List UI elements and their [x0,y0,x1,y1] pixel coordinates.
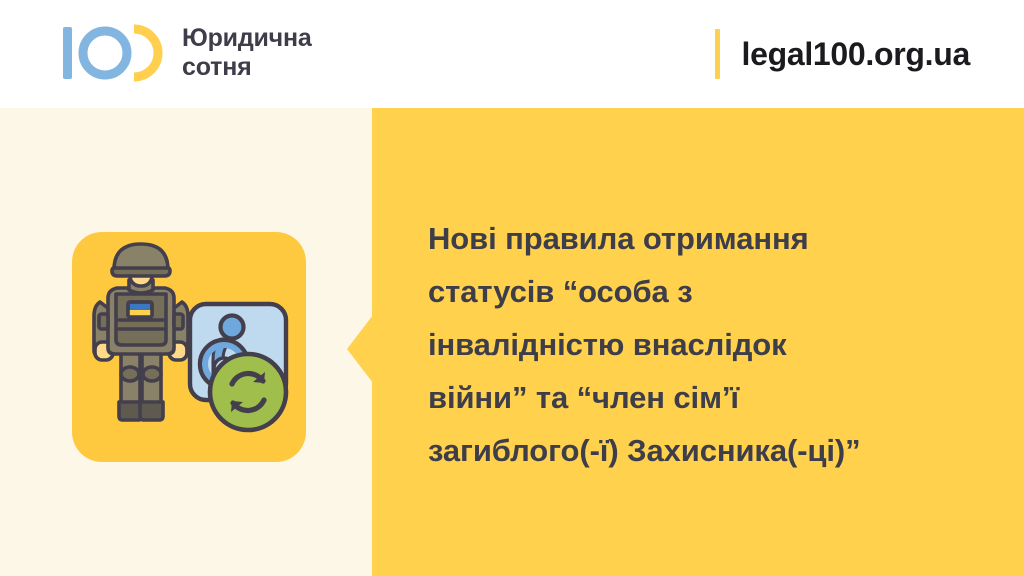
headline-line-4: війни” та “член сім’ї [428,371,1003,424]
headline-line-1: Нові правила отримання [428,212,1003,265]
ukraine-flag-patch [128,302,152,317]
headline-line-5: загиблого(-ї) Захисника(-ці)” [428,424,1003,477]
legal-hundred-logo-mark [60,22,164,84]
headline-line-2: статусів “особа з [428,265,1003,318]
announcement-card: Юридична сотня legal100.org.ua [0,0,1024,576]
page-title: Нові правила отримання статусів “особа з… [428,212,1003,477]
illustration-card [72,232,306,462]
site-url-block[interactable]: legal100.org.ua [715,26,971,82]
site-divider [715,29,720,79]
content-area: Нові правила отримання статусів “особа з… [0,108,1024,576]
brand-name: Юридична сотня [182,24,312,83]
refresh-renewal-icon [210,354,286,430]
page-header: Юридична сотня legal100.org.ua [0,0,1024,108]
headline-line-3: інвалідністю внаслідок [428,318,1003,371]
site-url: legal100.org.ua [742,36,971,73]
soldier-figure [94,244,188,420]
panel-pointer-arrow [347,315,373,383]
brand-lockup[interactable]: Юридична сотня [60,22,312,84]
